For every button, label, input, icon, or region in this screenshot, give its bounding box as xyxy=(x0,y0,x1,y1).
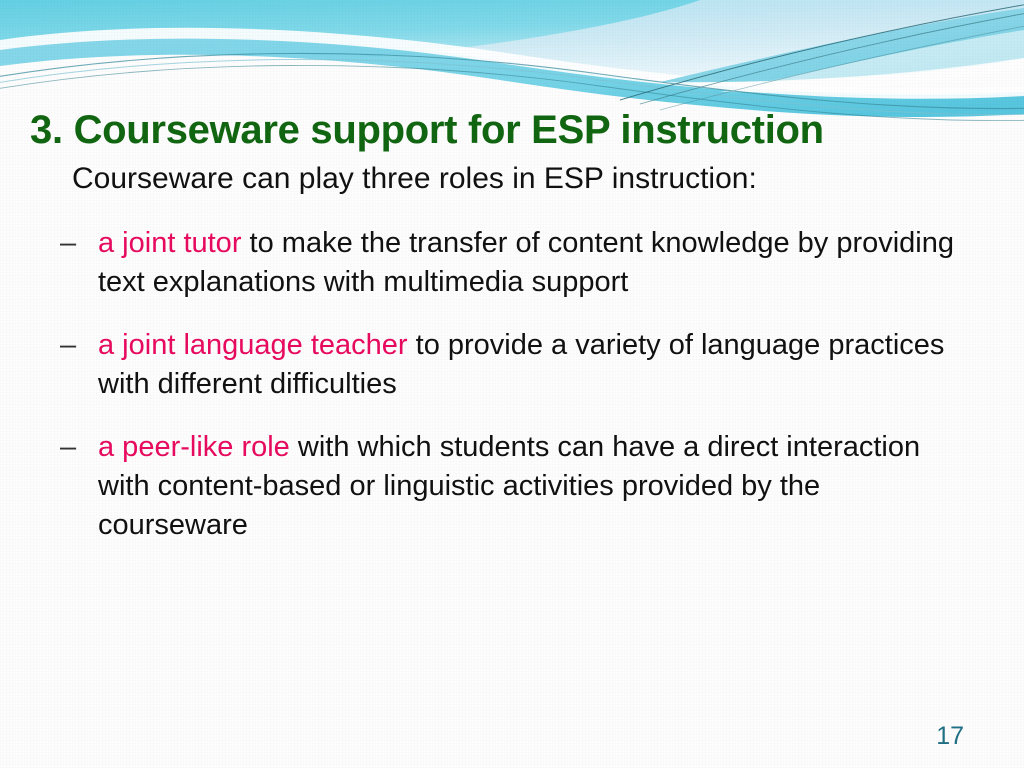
bullet-list: – a joint tutor to make the transfer of … xyxy=(0,224,1024,545)
bullet-highlight-term: a joint tutor xyxy=(98,227,241,259)
bullet-highlight-term: a joint language teacher xyxy=(98,329,408,361)
bullet-dash-icon: – xyxy=(60,428,86,467)
page-number: 17 xyxy=(936,722,964,750)
list-item: – a peer-like role with which students c… xyxy=(0,428,1024,545)
bullet-highlight-term: a peer-like role xyxy=(98,431,290,463)
bullet-dash-icon: – xyxy=(60,326,86,365)
slide: 3. Courseware support for ESP instructio… xyxy=(0,0,1024,768)
bullet-dash-icon: – xyxy=(60,224,86,263)
list-item: – a joint language teacher to provide a … xyxy=(0,326,1024,404)
intro-line: Courseware can play three roles in ESP i… xyxy=(0,160,1024,198)
list-item: – a joint tutor to make the transfer of … xyxy=(0,224,1024,302)
slide-body: Courseware can play three roles in ESP i… xyxy=(0,160,1024,545)
slide-title: 3. Courseware support for ESP instructio… xyxy=(30,107,1014,153)
